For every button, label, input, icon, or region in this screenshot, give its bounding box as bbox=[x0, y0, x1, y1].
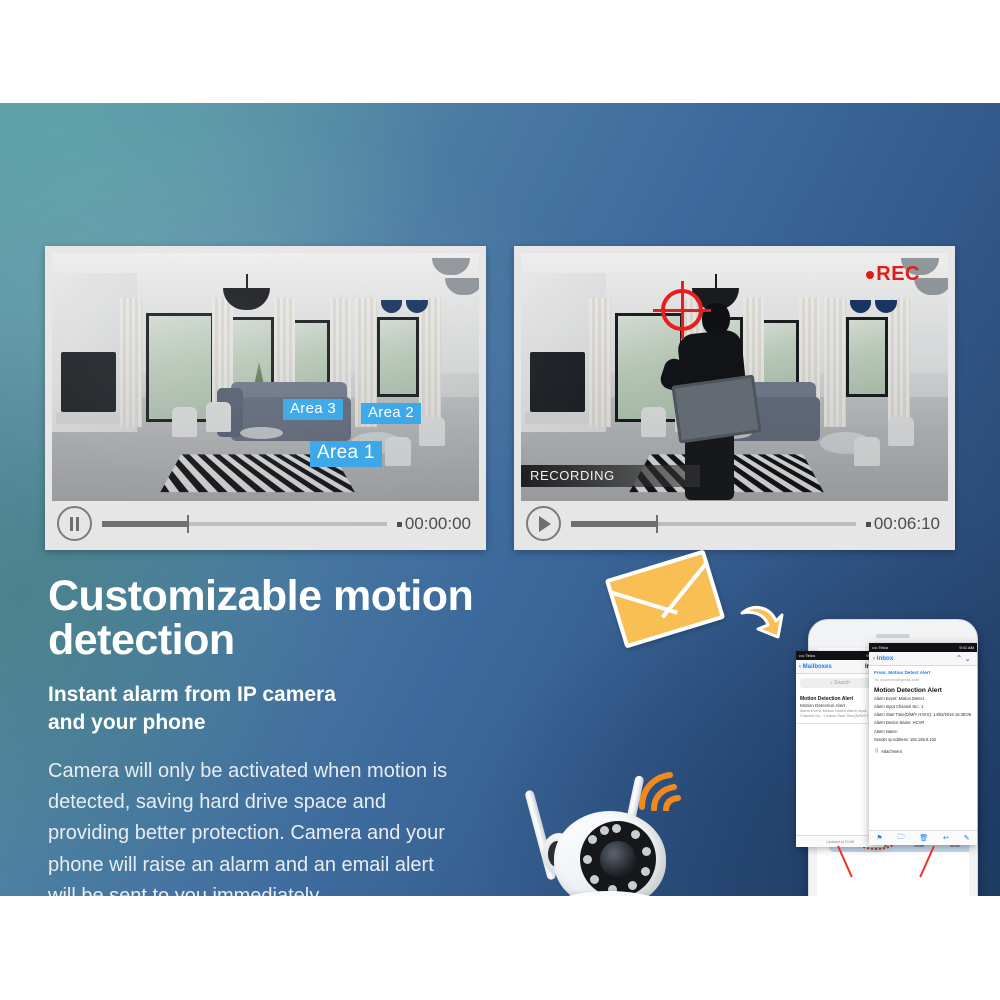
status-center-detail: 9:41 AM bbox=[959, 645, 974, 650]
mail-detail-body: From: Motion Detect Alert To: ipcamera@g… bbox=[869, 666, 977, 758]
area-tag-1[interactable]: Area 1 bbox=[310, 441, 382, 467]
timecode-left-value: 00:00:00 bbox=[405, 514, 471, 533]
recording-banner: RECORDING bbox=[521, 465, 700, 487]
player-controls-right[interactable]: 00:06:10 bbox=[521, 503, 948, 544]
back-to-inbox-button[interactable]: ‹ Inbox bbox=[873, 655, 893, 662]
area-tag-2[interactable]: Area 2 bbox=[361, 403, 421, 424]
mail-attachment[interactable]: 📎 Attachment bbox=[874, 748, 972, 754]
status-left-list: •••• Telco bbox=[799, 653, 815, 658]
play-icon[interactable] bbox=[526, 506, 561, 541]
video-player-right[interactable]: REC RECORDING 00:06:10 bbox=[514, 246, 955, 550]
page-root: Area 3 Area 2 Area 1 00:00:00 bbox=[0, 0, 1000, 1000]
reply-icon[interactable]: ↩ bbox=[943, 834, 949, 842]
mail-sender: Motion Detection Alert bbox=[800, 696, 880, 702]
back-label-detail: Inbox bbox=[877, 655, 894, 662]
mail-detail-screen[interactable]: •••• Telco 9:41 AM ‹ Inbox ⌃⌄ From: Moti… bbox=[869, 643, 977, 845]
search-placeholder: Search bbox=[834, 680, 850, 686]
curved-arrow-icon bbox=[740, 601, 784, 641]
video-player-left[interactable]: Area 3 Area 2 Area 1 00:00:00 bbox=[45, 246, 486, 550]
email-envelope-icon bbox=[605, 549, 726, 648]
video-screen-right: REC RECORDING bbox=[521, 253, 948, 501]
mail-line: Alarm Event: Motion Detect bbox=[874, 696, 972, 702]
status-left-detail: •••• Telco bbox=[872, 645, 888, 650]
folder-icon[interactable]: 🗀 bbox=[898, 833, 905, 844]
search-icon: ⌕ bbox=[830, 680, 833, 686]
mail-line: Alarm Input Channel No.: 1 bbox=[874, 704, 972, 710]
back-label-list: Mailboxes bbox=[803, 664, 832, 670]
mail-to: To: ipcamera@gmail.com bbox=[874, 677, 972, 682]
timecode-right-value: 00:06:10 bbox=[874, 514, 940, 533]
rec-indicator-label: REC bbox=[876, 263, 920, 285]
seek-bar-right[interactable] bbox=[571, 522, 856, 526]
area-tag-3[interactable]: Area 3 bbox=[283, 399, 343, 420]
ip-camera-icon bbox=[518, 763, 698, 896]
mail-line: Sender Ip Address: 192.168.0.102 bbox=[874, 737, 972, 743]
compose-icon[interactable]: ✎ bbox=[964, 834, 970, 842]
page-title: Customizable motion detection bbox=[48, 575, 518, 663]
timecode-left: 00:00:00 bbox=[397, 514, 471, 534]
hero-panel: Area 3 Area 2 Area 1 00:00:00 bbox=[0, 103, 1000, 896]
timecode-right: 00:06:10 bbox=[866, 514, 940, 534]
chevron-up-down-icons[interactable]: ⌃⌄ bbox=[956, 654, 973, 663]
seek-bar-left[interactable] bbox=[102, 522, 387, 526]
mail-line: Alarm Start Time(D/M/Y H:M:S): 14/02/201… bbox=[874, 712, 972, 718]
camera-base bbox=[534, 891, 684, 896]
back-to-mailboxes-button[interactable]: ‹ Mailboxes bbox=[799, 664, 832, 670]
mail-detail-toolbar[interactable]: ⚑ 🗀 🗑 ↩ ✎ bbox=[869, 830, 977, 845]
phone-speaker bbox=[876, 634, 910, 638]
paperclip-icon: 📎 bbox=[873, 747, 881, 755]
video-screen-left: Area 3 Area 2 Area 1 bbox=[52, 253, 479, 501]
trash-icon[interactable]: 🗑 bbox=[919, 834, 928, 842]
subtitle-line-2: and your phone bbox=[48, 709, 478, 737]
subtitle: Instant alarm from IP camera and your ph… bbox=[48, 681, 478, 736]
mail-from: From: Motion Detect Alert bbox=[874, 670, 972, 675]
camera-lens-ring bbox=[580, 821, 656, 896]
rec-indicator: REC bbox=[866, 263, 920, 286]
pause-icon[interactable] bbox=[57, 506, 92, 541]
player-controls-left[interactable]: 00:00:00 bbox=[52, 503, 479, 544]
mail-preview: Alarm Event: Motion Detect Alarm Input C… bbox=[800, 709, 880, 719]
attachment-label: Attachment bbox=[881, 749, 902, 754]
mail-line: Alarm Name: bbox=[874, 729, 972, 735]
mail-line: Alarm Device Name: HCVR bbox=[874, 720, 972, 726]
subtitle-line-1: Instant alarm from IP camera bbox=[48, 681, 478, 709]
search-input[interactable]: ⌕ Search bbox=[800, 678, 880, 688]
mail-subject: Motion Detection Alert bbox=[800, 703, 880, 708]
mail-detail-navbar[interactable]: ‹ Inbox ⌃⌄ bbox=[869, 652, 977, 666]
body-paragraph: Camera will only be activated when motio… bbox=[48, 756, 448, 896]
flag-icon[interactable]: ⚑ bbox=[876, 834, 882, 842]
mail-detail-subject: Motion Detection Alert bbox=[874, 687, 972, 694]
status-bar-detail: •••• Telco 9:41 AM bbox=[869, 643, 977, 652]
face-detection-reticle-icon bbox=[653, 281, 711, 339]
